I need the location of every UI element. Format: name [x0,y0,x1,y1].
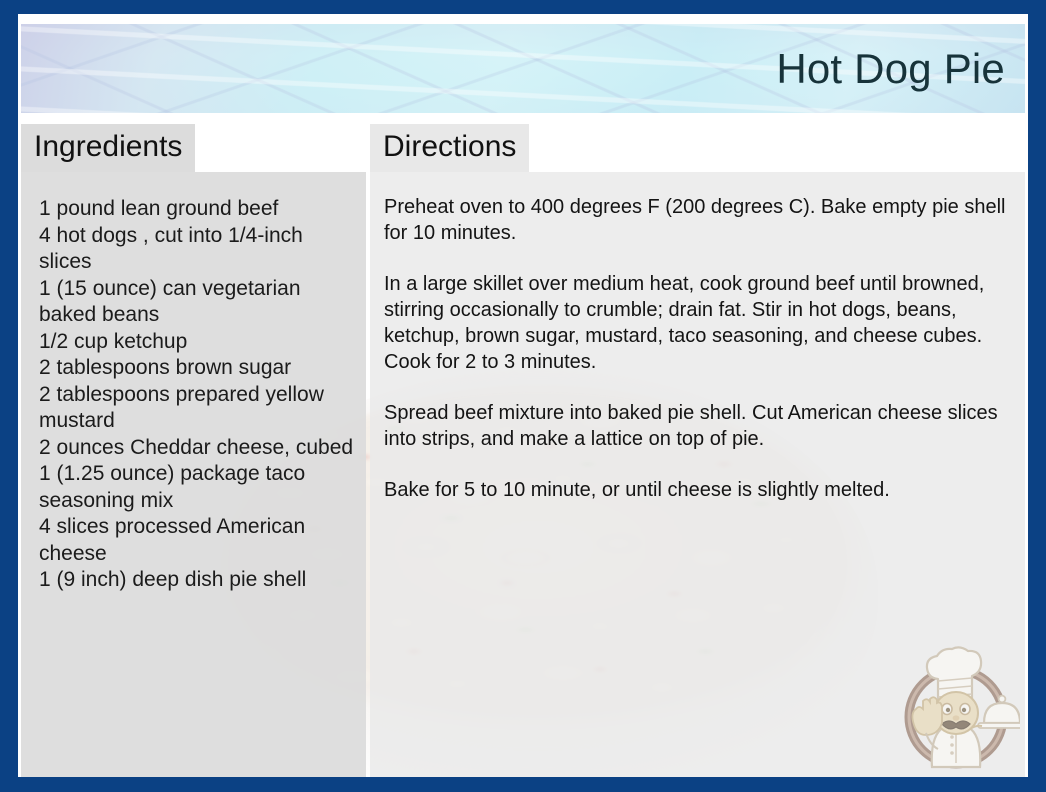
direction-steps: Preheat oven to 400 degrees F (200 degre… [384,194,1007,503]
directions-heading: Directions [370,124,529,172]
ingredients-section: Ingredients 1 pound lean ground beef 4 h… [21,124,366,777]
chef-mascot-logo [892,645,1020,771]
direction-step: In a large skillet over medium heat, coo… [384,271,1007,375]
list-item: 1 (9 inch) deep dish pie shell [39,567,360,594]
list-item: 2 ounces Cheddar cheese, cubed [39,435,360,462]
list-item: 1/2 cup ketchup [39,329,360,356]
list-item: 2 tablespoons brown sugar [39,355,360,382]
header-banner: Hot Dog Pie [21,24,1025,113]
list-item: 4 slices processed American cheese [39,514,360,567]
direction-step: Spread beef mixture into baked pie shell… [384,400,1007,452]
list-item: 1 (1.25 ounce) package taco seasoning mi… [39,461,360,514]
list-item: 1 pound lean ground beef [39,196,360,223]
list-item: 4 hot dogs , cut into 1/4-inch slices [39,223,360,276]
direction-step: Bake for 5 to 10 minute, or until cheese… [384,477,1007,503]
direction-step: Preheat oven to 400 degrees F (200 degre… [384,194,1007,246]
list-item: 1 (15 ounce) can vegetarian baked beans [39,276,360,329]
list-item: 2 tablespoons prepared yellow mustard [39,382,360,435]
recipe-title: Hot Dog Pie [776,45,1005,93]
recipe-card: Hot Dog Pie Ingredients 1 pound lean gro… [0,0,1046,792]
ingredients-heading: Ingredients [21,124,195,172]
card-inner-frame: Hot Dog Pie Ingredients 1 pound lean gro… [18,14,1028,777]
ingredient-list: 1 pound lean ground beef 4 hot dogs , cu… [39,196,360,594]
ingredients-panel: 1 pound lean ground beef 4 hot dogs , cu… [21,172,366,777]
